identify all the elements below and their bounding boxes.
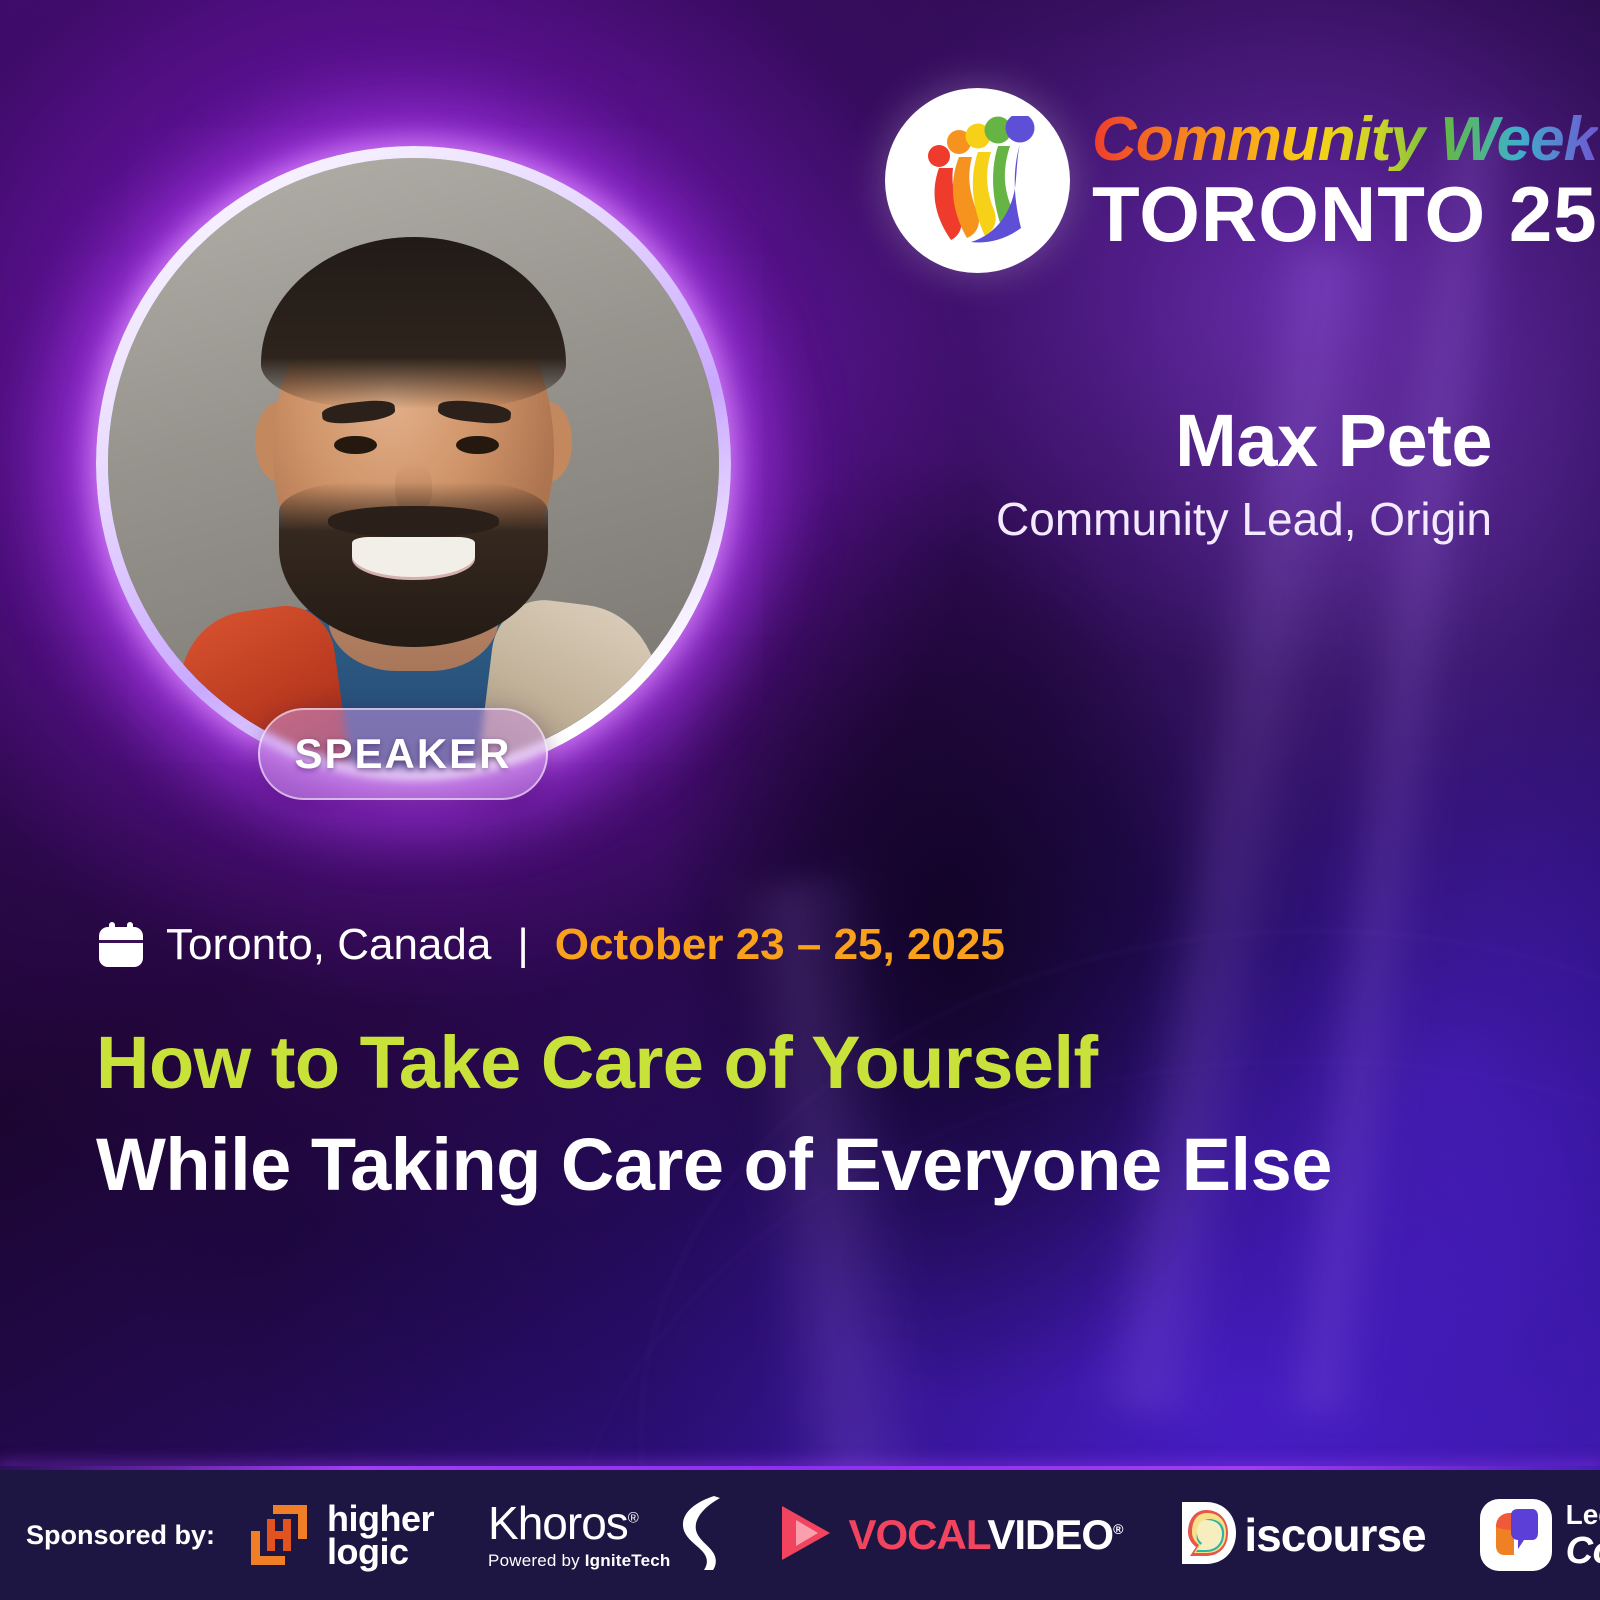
event-brand-line1: Community Week bbox=[1092, 109, 1598, 171]
speaker-announcement-poster: SPEAKER Community Week TORONTO 25 Max Pe… bbox=[0, 0, 1600, 1600]
sponsor-bar: Sponsored by: higher logic Khoros® bbox=[0, 1470, 1600, 1600]
community-week-rainbow-figures-icon bbox=[885, 88, 1070, 273]
sponsor-logo-led-by-community[interactable]: Led by Community bbox=[1480, 1499, 1600, 1571]
speaker-badge: SPEAKER bbox=[258, 708, 548, 800]
led-by-community-line2: Community bbox=[1566, 1532, 1600, 1570]
vocal-video-part1: VOCAL bbox=[848, 1511, 987, 1558]
speaker-role: Community Lead, Origin bbox=[996, 492, 1492, 546]
led-by-community-line1: Led by bbox=[1566, 1501, 1600, 1529]
khoros-tagline-bold: IgniteTech bbox=[585, 1551, 671, 1570]
sponsor-logo-higher-logic[interactable]: higher logic bbox=[243, 1499, 434, 1571]
event-dates: October 23 – 25, 2025 bbox=[555, 920, 1005, 970]
speaker-photo-ring bbox=[96, 146, 731, 781]
sponsor-logo-discourse[interactable]: iscourse bbox=[1176, 1500, 1425, 1571]
speaker-badge-label: SPEAKER bbox=[294, 730, 511, 778]
speaker-photo bbox=[108, 158, 719, 769]
discourse-wordmark: iscourse bbox=[1244, 1508, 1425, 1562]
higher-logic-line2: logic bbox=[327, 1535, 434, 1568]
vocal-video-play-icon bbox=[778, 1502, 834, 1569]
khoros-tagline-pre: Powered by bbox=[488, 1551, 585, 1570]
discourse-d-bubble-icon bbox=[1176, 1500, 1238, 1571]
event-brand-line2: TORONTO 25 bbox=[1092, 175, 1598, 253]
led-by-community-bubbles-icon bbox=[1480, 1499, 1552, 1571]
khoros-registered-mark: ® bbox=[628, 1509, 638, 1526]
event-logo: Community Week TORONTO 25 bbox=[885, 88, 1598, 273]
higher-logic-bracket-icon bbox=[243, 1499, 315, 1571]
background-swoop-lower bbox=[885, 400, 1600, 1600]
session-title-line2: While Taking Care of Everyone Else bbox=[96, 1122, 1332, 1207]
speaker-name: Max Pete bbox=[1175, 398, 1492, 483]
sponsor-logo-khoros[interactable]: Khoros® Powered by IgniteTech bbox=[488, 1496, 724, 1575]
khoros-wordmark: Khoros bbox=[488, 1497, 628, 1549]
background-light-streak bbox=[1276, 119, 1524, 1420]
vocal-video-registered-mark: ® bbox=[1113, 1521, 1122, 1537]
calendar-icon bbox=[96, 920, 146, 970]
sponsored-by-label: Sponsored by: bbox=[26, 1520, 215, 1551]
vocal-video-part2: VIDEO bbox=[987, 1511, 1113, 1558]
khoros-swoosh-icon bbox=[680, 1496, 724, 1575]
sponsor-logo-vocal-video[interactable]: VOCALVIDEO® bbox=[778, 1502, 1122, 1569]
session-title-line1: How to Take Care of Yourself bbox=[96, 1020, 1098, 1105]
event-meta: Toronto, Canada | October 23 – 25, 2025 bbox=[96, 920, 1005, 970]
event-location: Toronto, Canada bbox=[166, 920, 491, 970]
meta-separator: | bbox=[511, 920, 534, 970]
